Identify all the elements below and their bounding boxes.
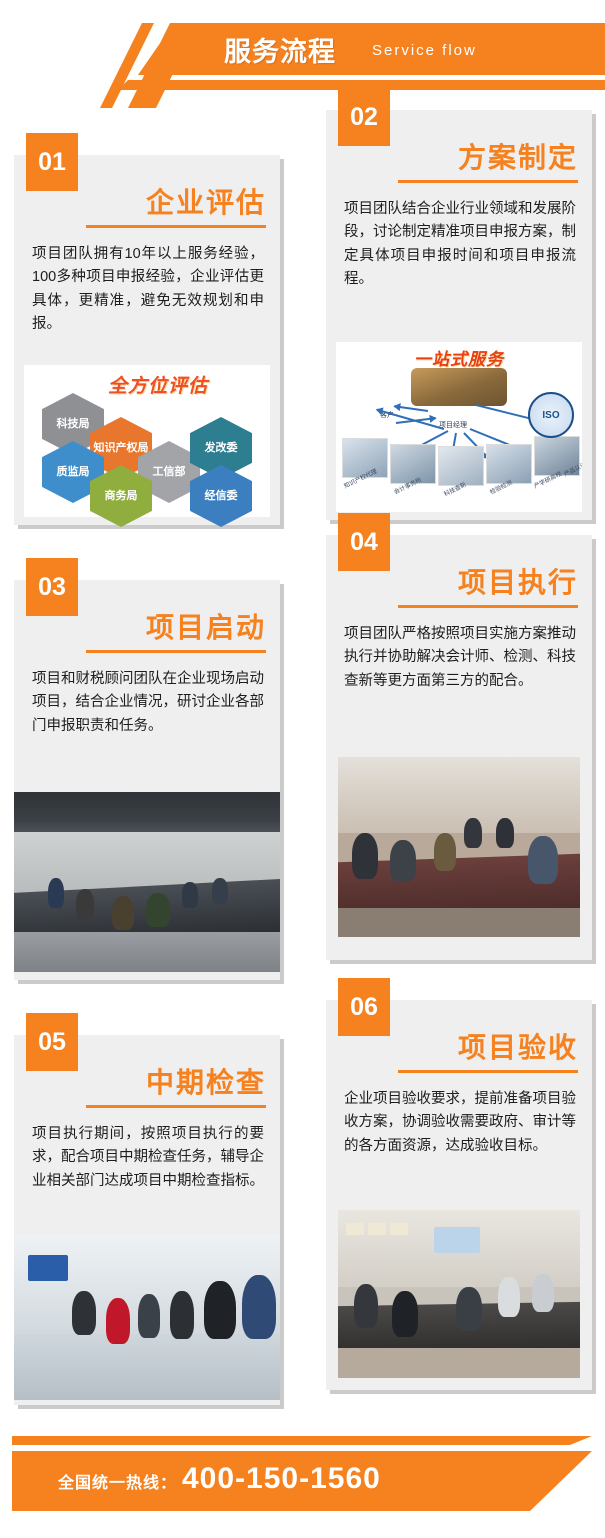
card-06-text: 企业项目验收要求，提前准备项目验收方案，协调验收需要政府、审计等的各方面资源，达…: [344, 1088, 576, 1158]
hexagon-keji-label: 科技局: [57, 418, 90, 431]
hexagon-fagai-label: 发改委: [205, 442, 238, 455]
hotline-label: 全国统一热线：: [58, 1469, 177, 1493]
card-05-rule: [86, 1105, 266, 1108]
iso-seal-label: ISO: [542, 410, 559, 421]
one-stop-service-title: 一站式服务: [414, 345, 504, 370]
card-02-rule: [398, 180, 578, 183]
page-header: 服务流程 Service flow: [0, 0, 605, 110]
hexagon-zhishi-label: 知识产权局: [94, 442, 149, 455]
card-02-text: 项目团队结合企业行业领域和发展阶段，讨论制定精准项目申报方案，制定具体项目申报时…: [344, 198, 576, 292]
card-06[interactable]: 06 项目验收 企业项目验收要求，提前准备项目验收方案，协调验收需要政府、审计等…: [326, 1000, 592, 1390]
card-01-number: 01: [26, 133, 78, 191]
card-01[interactable]: 01 企业评估 项目团队拥有10年以上服务经验，100多种项目申报经验，企业评估…: [14, 155, 280, 525]
page-footer: 全国统一热线： 400-150-1560: [0, 1418, 605, 1538]
card-03-rule: [86, 650, 266, 653]
footer-stripe: [12, 1436, 592, 1445]
one-stop-service-figure: 一站式服务 客户 项目经理 ISO 知识产权代理 会计事务所 科技查新 检验检测…: [336, 342, 582, 512]
card-04-number: 04: [338, 513, 390, 571]
one-stop-hub-photo: [411, 368, 507, 406]
hotline-number[interactable]: 400-150-1560: [182, 1462, 381, 1496]
card-02-number: 02: [338, 88, 390, 146]
arrow-to-kehu: [394, 405, 428, 412]
card-01-text: 项目团队拥有10年以上服务经验，100多种项目申报经验，企业评估更具体，更精准，…: [32, 243, 264, 337]
card-03-number: 03: [26, 558, 78, 616]
card-06-rule: [398, 1070, 578, 1073]
card-05-photo: [14, 1235, 280, 1400]
hexagon-jingxin-label: 经信委: [205, 490, 238, 503]
card-03[interactable]: 03 项目启动 项目和财税顾问团队在企业现场启动项目，结合企业情况，研讨企业各部…: [14, 580, 280, 980]
card-04-text: 项目团队严格按照项目实施方案推动执行并协助解决会计师、检测、科技查新等更方面第三…: [344, 623, 576, 693]
card-05-text: 项目执行期间，按照项目执行的要求，配合项目中期检查任务，辅导企业相关部门达成项目…: [32, 1123, 264, 1193]
page-title: 服务流程: [224, 30, 336, 69]
hexagon-zhijian-label: 质监局: [57, 466, 90, 479]
iso-certification-seal: ISO: [528, 392, 574, 438]
card-03-photo: [14, 792, 280, 972]
card-03-text: 项目和财税顾问团队在企业现场启动项目，结合企业情况，研讨企业各部门申报职责和任务…: [32, 668, 264, 738]
card-05-number: 05: [26, 1013, 78, 1071]
card-04[interactable]: 04 项目执行 项目团队严格按照项目实施方案推动执行并协助解决会计师、检测、科技…: [326, 535, 592, 960]
hexagon-gongxin-label: 工信部: [153, 466, 186, 479]
card-04-rule: [398, 605, 578, 608]
page-subtitle: Service flow: [372, 42, 477, 59]
card-02[interactable]: 02 方案制定 项目团队结合企业行业领域和发展阶段，讨论制定精准项目申报方案，制…: [326, 110, 592, 520]
card-05[interactable]: 05 中期检查 项目执行期间，按照项目执行的要求，配合项目中期检查任务，辅导企业…: [14, 1035, 280, 1405]
card-06-number: 06: [338, 978, 390, 1036]
hexagon-shangwu-label: 商务局: [105, 490, 138, 503]
hexagon-figure-title: 全方位评估: [108, 371, 208, 398]
assessment-hexagon-figure: 全方位评估 科技局 知识产权局 质监局 工信部 商务局 发改委 经信委: [24, 365, 270, 517]
card-04-photo: [338, 757, 580, 937]
card-01-rule: [86, 225, 266, 228]
card-06-photo: [338, 1210, 580, 1378]
